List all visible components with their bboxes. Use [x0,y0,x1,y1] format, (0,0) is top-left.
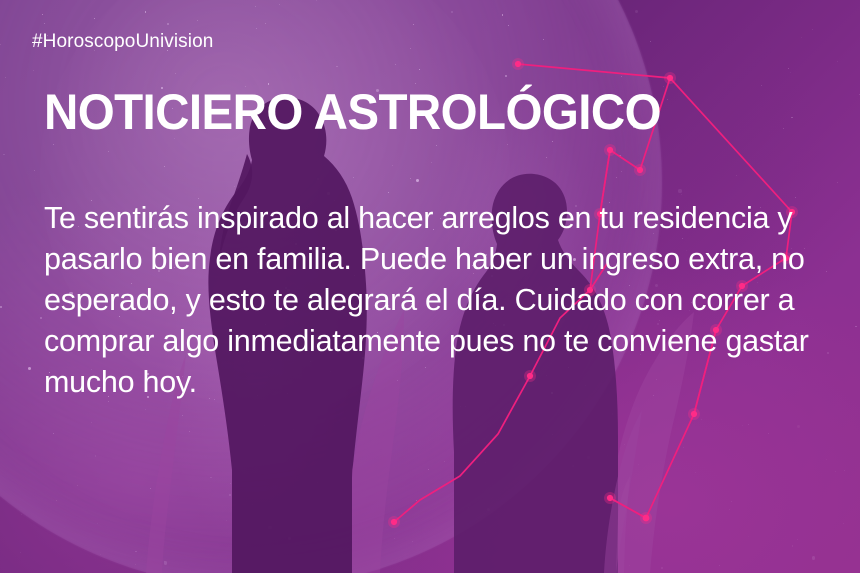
horoscope-body-text: Te sentirás inspirado al hacer arreglos … [44,198,834,403]
page-title: NOTICIERO ASTROLÓGICO [44,86,661,138]
horoscope-card: #HoroscopoUnivision NOTICIERO ASTROLÓGIC… [0,0,860,573]
text-content: #HoroscopoUnivision NOTICIERO ASTROLÓGIC… [0,0,860,573]
hashtag-label: #HoroscopoUnivision [32,31,213,53]
